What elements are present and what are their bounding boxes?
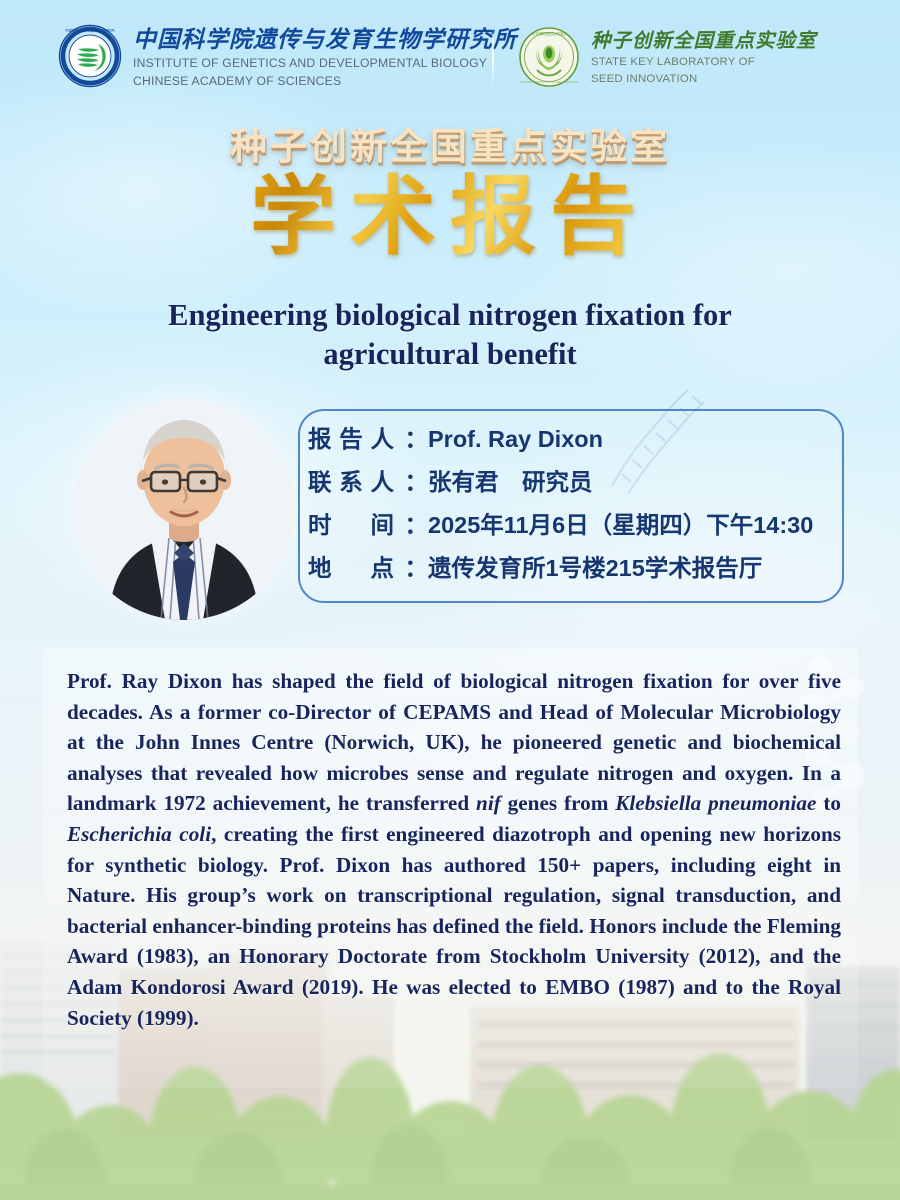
igdb-name-en-line1: INSTITUTE OF GENETICS AND DEVELOPMENTAL … <box>133 55 517 71</box>
svg-text:种子创新全国重点实验室: 种子创新全国重点实验室 <box>531 31 566 36</box>
info-value-time: 2025年11月6日（星期四）下午14:30 <box>428 504 848 547</box>
speaker-biography: Prof. Ray Dixon has shaped the field of … <box>67 666 841 1033</box>
svg-text:STATE KEY LABORATORY OF SEED I: STATE KEY LABORATORY OF SEED INNOVATION <box>520 81 579 84</box>
seed-lab-name-en-line1: STATE KEY LABORATORY OF <box>591 55 817 70</box>
info-row-location: 地 点 ： 遗传发育所1号楼215学术报告厅 <box>308 547 848 590</box>
bio-italic-term: Escherichia coli <box>67 822 211 846</box>
info-value-contact: 张有君 研究员 <box>428 461 848 504</box>
event-type-title: 学术报告 <box>0 172 900 262</box>
label-char: 系 <box>339 461 363 504</box>
info-label-time: 时 间 ： <box>308 504 428 547</box>
label-colon: ： <box>405 418 429 461</box>
info-row-time: 时 间 ： 2025年11月6日（星期四）下午14:30 <box>308 504 848 547</box>
label-colon: ： <box>405 504 429 547</box>
igdb-name-cn: 中国科学院遗传与发育生物学研究所 <box>133 27 517 53</box>
igdb-name-en-line2: CHINESE ACADEMY OF SCIENCES <box>133 73 517 89</box>
label-char: 人 <box>371 461 395 504</box>
info-row-contact: 联 系 人 ： 张有君 研究员 <box>308 461 848 504</box>
talk-info-list: 报 告 人 ： Prof. Ray Dixon 联 系 人 ： 张有君 研究员 <box>308 418 848 590</box>
info-label-contact: 联 系 人 ： <box>308 461 428 504</box>
label-char: 报 <box>308 418 332 461</box>
seminar-poster: 中国科学院遗传与发育生物学研究所 中国科学院遗传与发育生物学研究所 INSTIT… <box>0 0 900 1200</box>
seed-lab-logo-block: 种子创新全国重点实验室 STATE KEY LABORATORY OF SEED… <box>518 26 817 93</box>
info-label-location: 地 点 ： <box>308 547 428 590</box>
label-char: 联 <box>308 461 332 504</box>
svg-text:中国科学院遗传与发育生物学研究所: 中国科学院遗传与发育生物学研究所 <box>65 28 115 33</box>
label-char: 时 <box>308 504 332 547</box>
label-char: 告 <box>339 418 363 461</box>
label-colon: ： <box>405 547 429 590</box>
seed-lab-name-en-line2: SEED INNOVATION <box>591 72 817 87</box>
label-char: 地 <box>308 547 332 590</box>
igdb-institute-seal-icon: 中国科学院遗传与发育生物学研究所 <box>58 24 122 93</box>
label-char: 人 <box>371 418 395 461</box>
igdb-logo-block: 中国科学院遗传与发育生物学研究所 中国科学院遗传与发育生物学研究所 INSTIT… <box>58 24 517 93</box>
info-label-speaker: 报 告 人 ： <box>308 418 428 461</box>
label-char: 点 <box>371 547 395 590</box>
logo-divider <box>492 26 494 88</box>
info-value-speaker: Prof. Ray Dixon <box>428 418 848 461</box>
label-colon: ： <box>405 461 429 504</box>
seed-lab-name-cn: 种子创新全国重点实验室 <box>591 31 817 53</box>
info-row-speaker: 报 告 人 ： Prof. Ray Dixon <box>308 418 848 461</box>
speaker-portrait-wrap <box>73 398 297 622</box>
igdb-logo-text: 中国科学院遗传与发育生物学研究所 INSTITUTE OF GENETICS A… <box>133 27 517 89</box>
avatar <box>73 398 295 620</box>
info-value-location: 遗传发育所1号楼215学术报告厅 <box>428 547 848 590</box>
bio-italic-term: Klebsiella pneumoniae <box>615 791 816 815</box>
label-char: 间 <box>371 504 395 547</box>
talk-title: Engineering biological nitrogen fixation… <box>120 296 780 374</box>
bio-italic-term: nif <box>476 791 501 815</box>
seed-innovation-lab-seal-icon: 种子创新全国重点实验室 STATE KEY LABORATORY OF SEED… <box>518 26 580 93</box>
seed-lab-logo-text: 种子创新全国重点实验室 STATE KEY LABORATORY OF SEED… <box>591 31 817 87</box>
lab-name-title: 种子创新全国重点实验室 <box>0 116 900 170</box>
poster-header: 中国科学院遗传与发育生物学研究所 中国科学院遗传与发育生物学研究所 INSTIT… <box>0 0 900 112</box>
